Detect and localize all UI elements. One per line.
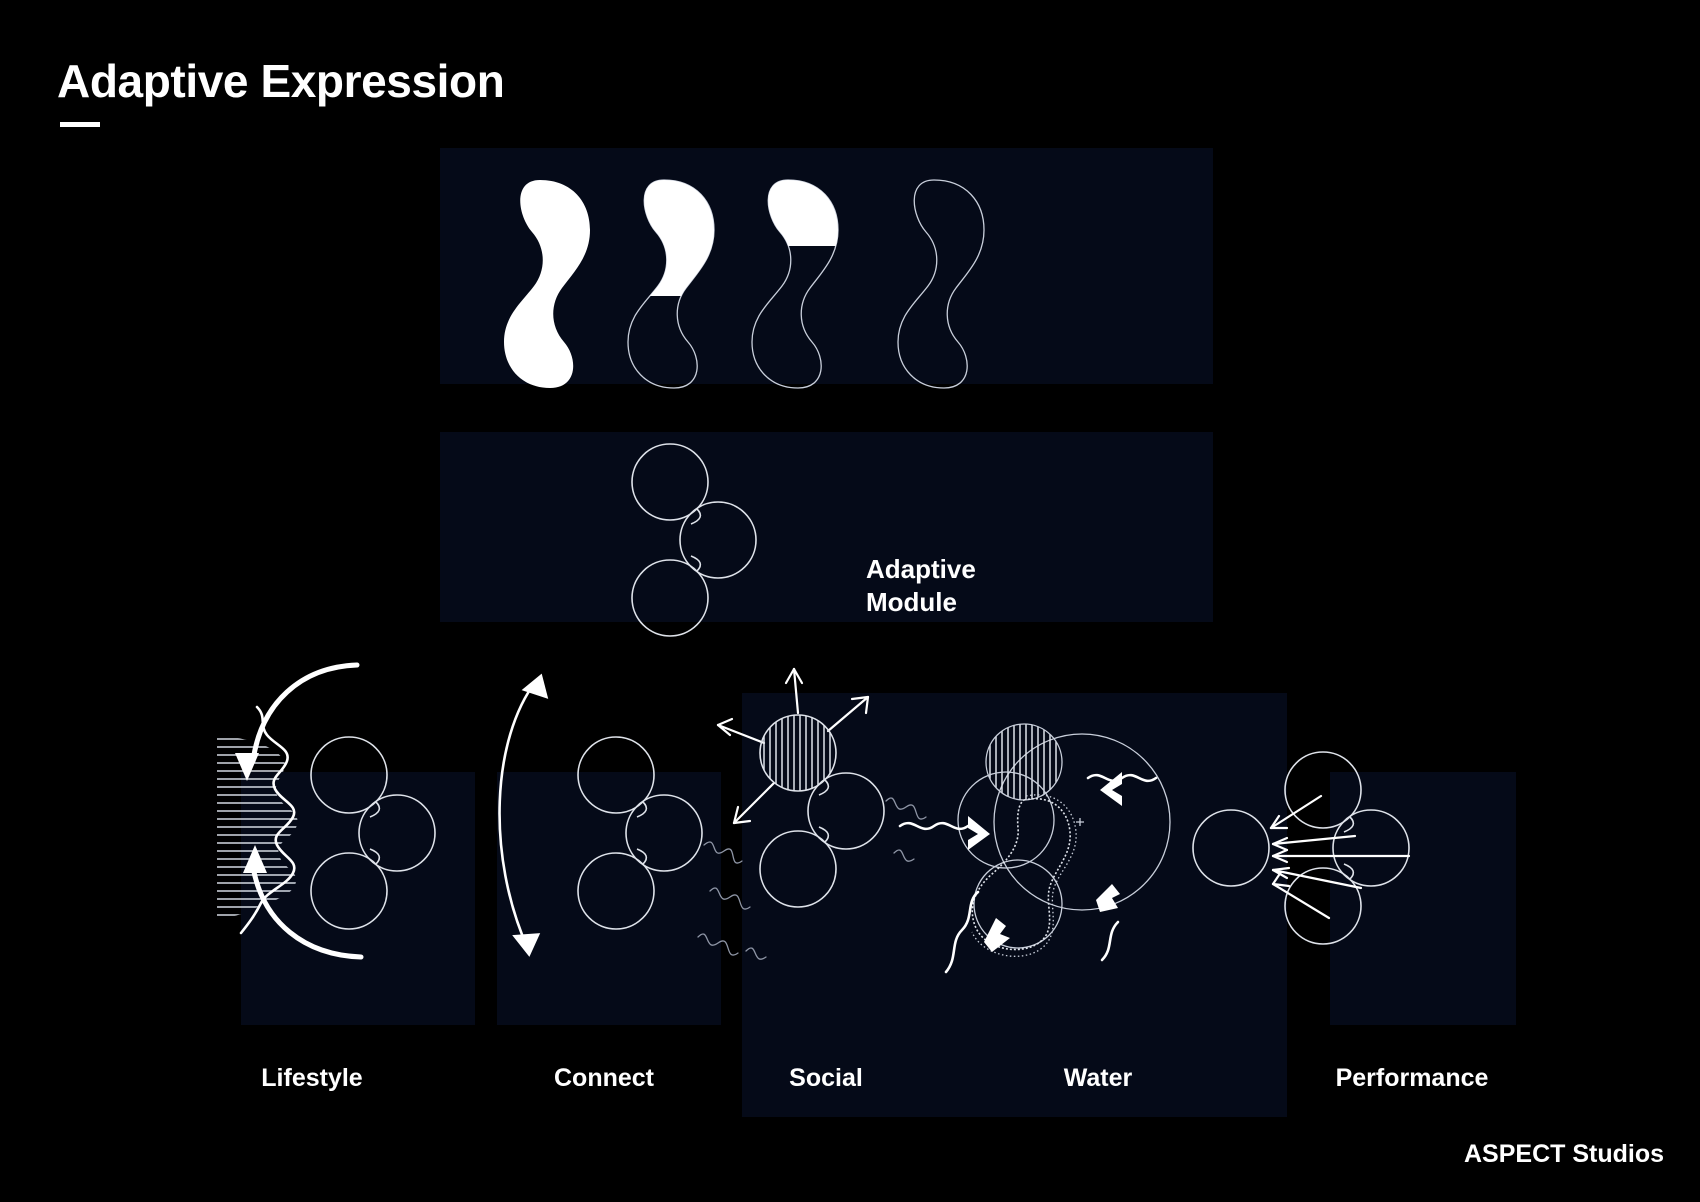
center-cross-mark	[1076, 818, 1084, 826]
evolution-step-1	[504, 180, 590, 388]
evolution-step-2	[628, 180, 714, 388]
evolution-step-4	[898, 180, 984, 388]
lifestyle-graphic	[205, 655, 475, 975]
squiggle-marks	[698, 798, 926, 959]
slide-canvas: Adaptive Expression	[0, 0, 1700, 1202]
radiating-arrows	[718, 669, 868, 823]
form-evolution-graphic	[440, 148, 1220, 388]
double-headed-arc-arrow	[500, 669, 555, 959]
performance-graphic	[1195, 740, 1455, 990]
lifestyle-module-icon	[311, 737, 435, 929]
category-label-connect: Connect	[554, 1064, 654, 1093]
evolution-step-3	[752, 180, 838, 388]
performance-module-icon	[1285, 752, 1409, 944]
module-circles	[632, 444, 756, 636]
footer-brand: ASPECT Studios	[1464, 1140, 1664, 1169]
category-label-performance: Performance	[1336, 1064, 1489, 1093]
water-graphic	[900, 690, 1230, 1020]
page-title: Adaptive Expression	[57, 57, 504, 105]
chevron-arrows	[968, 772, 1122, 952]
social-module-icon	[760, 713, 884, 907]
target-node	[1193, 810, 1269, 886]
wavy-flow-lines	[900, 775, 1156, 972]
title-underline-rule	[60, 122, 100, 127]
category-label-social: Social	[789, 1064, 863, 1093]
adaptive-module-label: Adaptive Module	[866, 553, 976, 618]
category-label-lifestyle: Lifestyle	[261, 1064, 362, 1093]
category-label-water: Water	[1064, 1064, 1133, 1093]
